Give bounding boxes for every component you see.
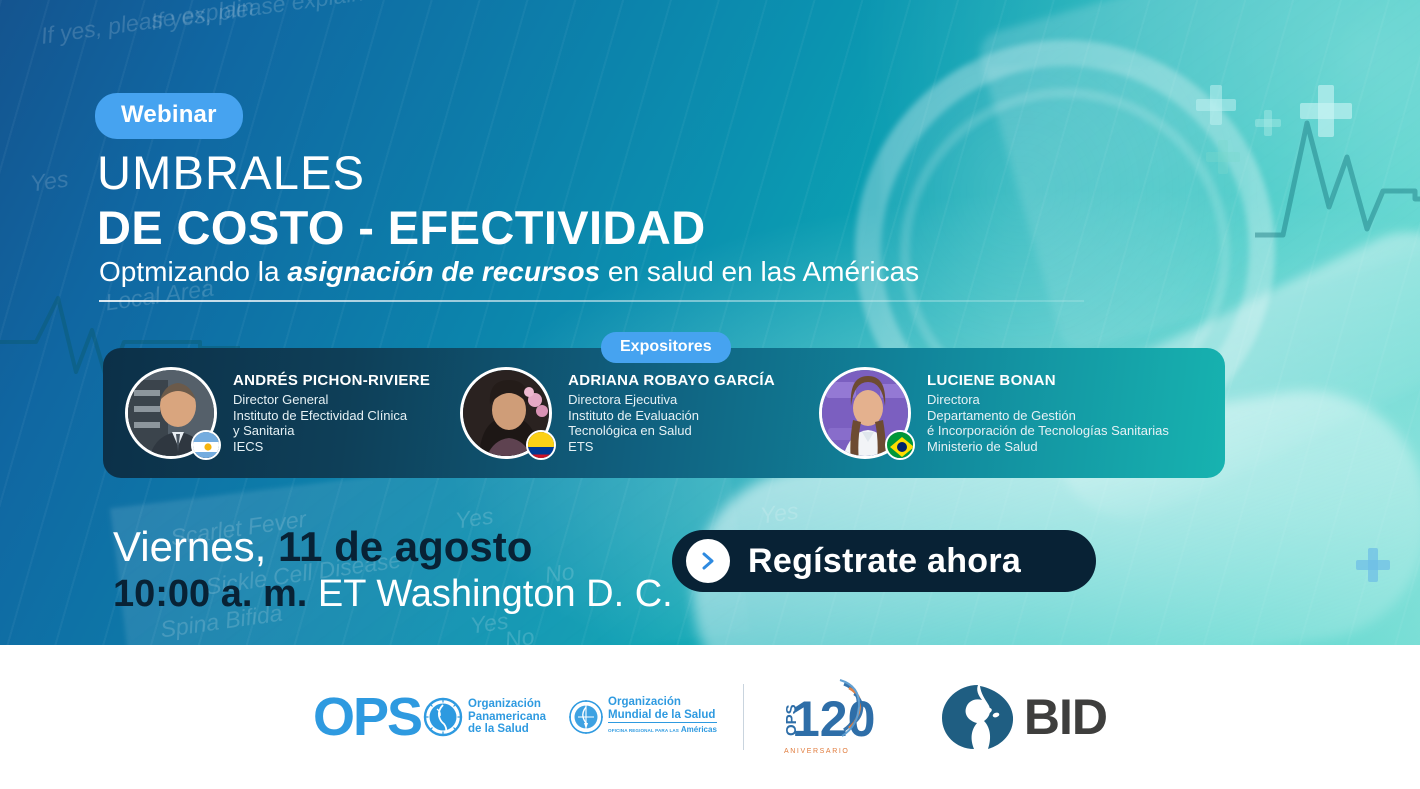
hero-banner: If yes, please explain If yes, please ex… [0,0,1420,645]
speaker-info: ANDRÉS PICHON-RIVIERE Director General I… [233,372,430,454]
who-region-prefix: OFICINA REGIONAL PARA LAS [608,728,679,733]
speaker-org-line: Departamento de Gestión [927,408,1169,424]
ghost-text: Yes [28,165,70,197]
speaker-name: LUCIENE BONAN [927,372,1169,389]
who-line1: Organización [608,696,717,709]
speaker-info: ADRIANA ROBAYO GARCÍA Directora Ejecutiv… [568,372,775,454]
webinar-poster: If yes, please explain If yes, please ex… [0,0,1420,789]
speaker-info: LUCIENE BONAN Directora Departamento de … [927,372,1169,454]
speaker-card: LUCIENE BONAN Directora Departamento de … [819,367,1169,459]
page-title-line2: DE COSTO - EFECTIVIDAD [97,200,706,255]
ops-wordmark: OPS [313,690,421,744]
medical-cross-icon [1300,85,1352,137]
avatar-wrapper [819,367,911,459]
speaker-org-line: Tecnológica en Salud [568,423,775,439]
paho-line1: Organización [468,698,546,711]
anniversary-logo: OPS 120 ANIVERSARIO [770,674,878,760]
speaker-card: ANDRÉS PICHON-RIVIERE Director General I… [125,367,430,459]
who-line2: Mundial de la Salud [608,709,717,722]
speakers-badge: Expositores [601,332,731,363]
ekg-line-right [1255,95,1420,245]
speaker-org-line: y Sanitaria [233,423,430,439]
argentina-flag-icon [191,430,221,460]
ghost-text: No [503,623,536,645]
paho-line2: Panamericana [468,711,546,724]
avatar-wrapper [125,367,217,459]
page-title-line1: UMBRALES [97,145,365,200]
speaker-role: Directora [927,392,1169,408]
subtitle-emphasis: asignación de recursos [287,256,600,287]
title-divider [99,300,1084,302]
ghost-text: If yes, please explain [39,0,255,50]
anniversary-number-text: 120 [792,691,875,747]
paho-line3: de la Salud [468,723,546,736]
speaker-org-abbrev: IECS [233,439,430,455]
ghost-text: Yes [758,497,800,529]
anniversary-label-text: ANIVERSARIO [784,748,849,755]
speaker-org-abbrev: Ministerio de Salud [927,439,1169,455]
speaker-org-line: é Incorporación de Tecnologías Sanitaria… [927,423,1169,439]
bid-wordmark: BID [1024,692,1107,742]
event-day-prefix: Viernes, [113,523,278,570]
who-emblem-icon [568,699,604,735]
speaker-role: Directora Ejecutiva [568,392,775,408]
who-logo: Organización Mundial de la Salud OFICINA… [568,696,717,738]
event-time-line: 10:00 a. m. ET Washington D. C. [113,573,673,616]
page-subtitle: Optmizando la asignación de recursos en … [99,256,919,288]
speaker-card: ADRIANA ROBAYO GARCÍA Directora Ejecutiv… [460,367,775,459]
speaker-org-line: Instituto de Evaluación [568,408,775,424]
webinar-badge: Webinar [95,93,243,139]
who-region-line: OFICINA REGIONAL PARA LAS Américas [608,722,717,738]
medical-cross-icon [1356,548,1390,582]
who-region-value: Américas [681,725,717,734]
subtitle-part2: en salud en las Américas [600,256,919,287]
event-time-value: 10:00 a. m. [113,573,307,615]
speaker-name: ANDRÉS PICHON-RIVIERE [233,372,430,389]
medical-cross-icon [1196,85,1236,125]
who-name-block: Organización Mundial de la Salud OFICINA… [608,696,717,738]
subtitle-part1: Optmizando la [99,256,287,287]
footer-logos: OPS Organización Panamericana [0,645,1420,789]
ghost-text: If yes, please explain [149,0,365,36]
register-button-label: Regístrate ahora [748,542,1021,581]
event-timezone: ET Washington D. C. [307,573,672,615]
event-day-value: 11 de agosto [278,523,532,570]
medical-cross-icon [1255,110,1281,136]
speaker-role: Director General [233,392,430,408]
bid-logo: BID [940,683,1107,751]
speaker-name: ADRIANA ROBAYO GARCÍA [568,372,775,389]
chevron-right-icon [686,539,730,583]
colombia-flag-icon [526,430,556,460]
brazil-flag-icon [885,430,915,460]
paho-globe-icon [423,697,463,737]
avatar-wrapper [460,367,552,459]
bid-globe-icon [940,683,1016,751]
register-button[interactable]: Regístrate ahora [672,530,1096,592]
footer-divider [743,684,744,750]
medical-cross-icon [1206,140,1240,174]
event-date-line: Viernes, 11 de agosto [113,523,532,571]
speakers-panel: ANDRÉS PICHON-RIVIERE Director General I… [103,348,1225,478]
paho-name-block: Organización Panamericana de la Salud [468,698,546,736]
speaker-org-line: Instituto de Efectividad Clínica [233,408,430,424]
speaker-org-abbrev: ETS [568,439,775,455]
paho-logo: OPS Organización Panamericana [313,690,546,744]
